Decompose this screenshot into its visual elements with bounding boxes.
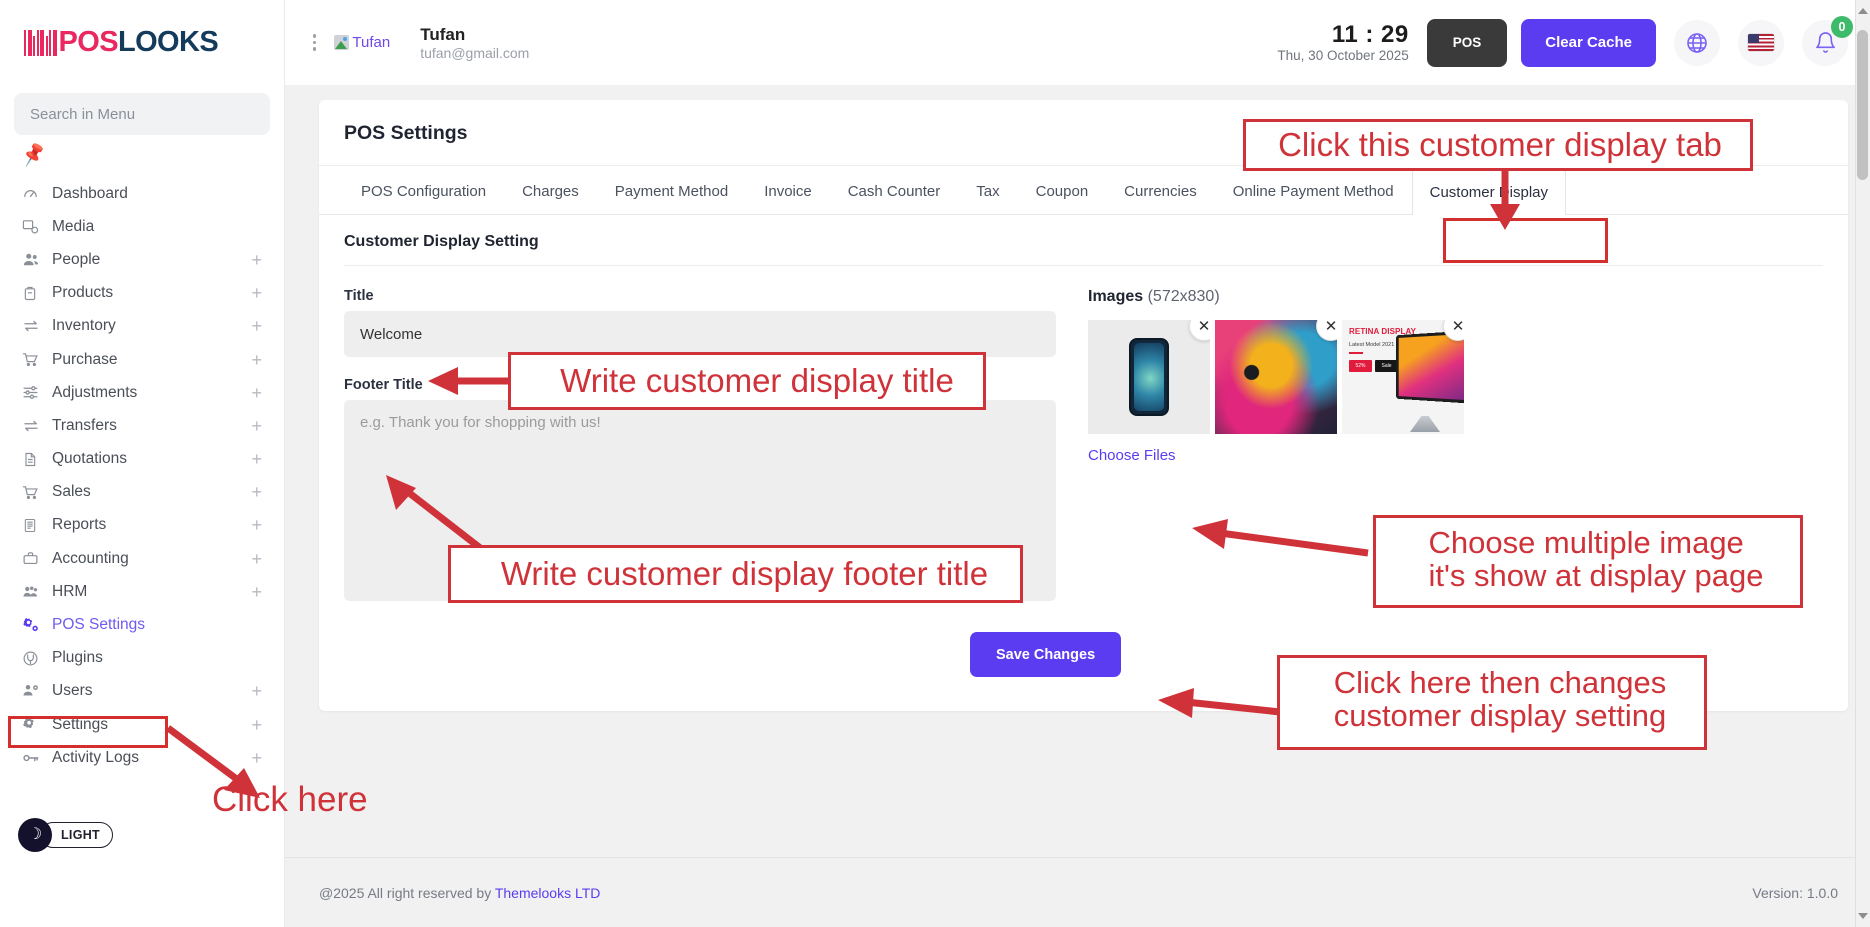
clock-block: 11 : 29 Thu, 30 October 2025 xyxy=(1277,22,1408,63)
cart-icon xyxy=(22,351,52,368)
pushpin-icon[interactable]: 📌 xyxy=(20,143,48,167)
group-icon xyxy=(22,583,52,601)
sidebar-item-label: Sales xyxy=(52,483,251,501)
choose-files-link[interactable]: Choose Files xyxy=(1088,447,1176,464)
sidebar-item-label: Dashboard xyxy=(52,185,262,203)
sidebar-item-expand-icon[interactable]: + xyxy=(251,450,262,468)
clear-cache-button[interactable]: Clear Cache xyxy=(1521,19,1656,67)
sidebar-item-label: Accounting xyxy=(52,550,251,568)
tab-coupon[interactable]: Coupon xyxy=(1018,166,1107,214)
sidebar-item-hrm[interactable]: HRM+ xyxy=(0,575,284,608)
user-email: tufan@gmail.com xyxy=(420,45,529,61)
banner-badge-sale: Sale xyxy=(1375,360,1398,372)
kebab-menu-icon[interactable] xyxy=(313,34,316,50)
sidebar-item-expand-icon[interactable]: + xyxy=(251,583,262,601)
anno-write-footer-title: Write customer display footer title xyxy=(448,545,1023,603)
media-icon xyxy=(22,218,52,235)
title-label: Title xyxy=(344,288,1056,304)
sidebar-item-expand-icon[interactable]: + xyxy=(251,483,262,501)
key-icon xyxy=(22,749,52,767)
sidebar-item-label: POS Settings xyxy=(52,616,262,634)
tab-online-payment-method[interactable]: Online Payment Method xyxy=(1215,166,1412,214)
sidebar-item-media[interactable]: Media xyxy=(0,210,284,243)
footer-copyright: @2025 All right reserved by Themelooks L… xyxy=(319,885,600,901)
current-time: 11 : 29 xyxy=(1277,22,1408,48)
tab-charges[interactable]: Charges xyxy=(504,166,597,214)
moon-icon: ☽ xyxy=(18,818,52,852)
retina-display-banner-image: RETINA DISPLAY Latest Model 2021 52% Sal… xyxy=(1342,320,1464,434)
tab-payment-method[interactable]: Payment Method xyxy=(597,166,746,214)
scroll-down-arrow-icon[interactable] xyxy=(1858,913,1868,919)
app-root: POSLOOKS 📌 DashboardMediaPeople+Products… xyxy=(0,0,1870,927)
exchange-icon xyxy=(22,417,52,435)
exchange-icon xyxy=(22,317,52,335)
logo-text-looks: LOOKS xyxy=(118,26,218,58)
page-footer: @2025 All right reserved by Themelooks L… xyxy=(285,857,1870,927)
notifications-button[interactable]: 0 xyxy=(1802,20,1848,66)
sidebar-item-pos-settings[interactable]: POS Settings xyxy=(0,608,284,641)
tab-tax[interactable]: Tax xyxy=(958,166,1017,214)
products-icon xyxy=(22,285,52,302)
sidebar-item-inventory[interactable]: Inventory+ xyxy=(0,310,284,343)
broken-image-icon xyxy=(334,35,349,50)
sidebar-item-expand-icon[interactable]: + xyxy=(251,284,262,302)
user-name: Tufan xyxy=(420,24,529,45)
image-thumbnail[interactable]: ✕ RETINA DISPLAY Latest Model 2021 52% S… xyxy=(1342,320,1464,434)
anno-save-changes: Click here then changes customer display… xyxy=(1277,655,1707,750)
sidebar-item-label: HRM xyxy=(52,583,251,601)
sidebar-item-label: Products xyxy=(52,284,251,302)
briefcase-icon xyxy=(22,550,52,567)
current-date: Thu, 30 October 2025 xyxy=(1277,48,1408,63)
user-info: Tufan tufan@gmail.com xyxy=(420,24,529,61)
images-label: Images (572x830) xyxy=(1088,288,1823,306)
tab-invoice[interactable]: Invoice xyxy=(746,166,830,214)
us-flag-icon xyxy=(1748,34,1774,51)
sidebar-item-users[interactable]: Users+ xyxy=(0,675,284,708)
main-content: POS Settings POS ConfigurationChargesPay… xyxy=(285,85,1870,927)
logo-text-pos: POS xyxy=(59,26,118,58)
sidebar-item-label: Media xyxy=(52,218,262,236)
sidebar-item-expand-icon[interactable]: + xyxy=(251,682,262,700)
document-icon xyxy=(22,451,52,468)
sidebar-item-quotations[interactable]: Quotations+ xyxy=(0,443,284,476)
sidebar-item-transfers[interactable]: Transfers+ xyxy=(0,409,284,442)
theme-toggle[interactable]: ☽ LIGHT xyxy=(18,818,113,852)
sidebar-item-label: Reports xyxy=(52,516,251,534)
anno-write-title: Write customer display title xyxy=(508,352,986,410)
cart-icon xyxy=(22,484,52,501)
people-icon xyxy=(22,251,52,269)
footer-company-link[interactable]: Themelooks LTD xyxy=(495,885,601,901)
sidebar-item-label: Transfers xyxy=(52,417,251,435)
notification-badge: 0 xyxy=(1831,16,1853,38)
sidebar-item-expand-icon[interactable]: + xyxy=(251,417,262,435)
sidebar-item-purchase[interactable]: Purchase+ xyxy=(0,343,284,376)
section-title: Customer Display Setting xyxy=(319,215,1848,265)
gauge-icon xyxy=(22,185,52,202)
tab-pos-configuration[interactable]: POS Configuration xyxy=(343,166,504,214)
tab-currencies[interactable]: Currencies xyxy=(1106,166,1215,214)
language-flag-button[interactable] xyxy=(1738,20,1784,66)
sidebar-item-adjustments[interactable]: Adjustments+ xyxy=(0,376,284,409)
remove-image-icon[interactable]: ✕ xyxy=(1189,320,1210,341)
app-logo[interactable]: POSLOOKS xyxy=(0,0,284,85)
sidebar-item-label: People xyxy=(52,251,251,269)
scrollbar-thumb[interactable] xyxy=(1857,30,1868,180)
image-thumbnail[interactable]: ✕ xyxy=(1215,320,1337,434)
page-scrollbar[interactable] xyxy=(1855,0,1870,927)
image-thumbnail[interactable]: ✕ xyxy=(1088,320,1210,434)
avatar-alt-text: Tufan xyxy=(352,34,390,51)
topbar: Tufan Tufan tufan@gmail.com 11 : 29 Thu,… xyxy=(285,0,1870,85)
sidebar-item-expand-icon[interactable]: + xyxy=(251,251,262,269)
sidebar-item-label: Plugins xyxy=(52,649,262,667)
anno-arrow-save xyxy=(1140,680,1290,730)
sidebar-item-sales[interactable]: Sales+ xyxy=(0,476,284,509)
sidebar-item-expand-icon[interactable]: + xyxy=(251,516,262,534)
footer-version: Version: 1.0.0 xyxy=(1752,885,1838,901)
barcode-icon xyxy=(24,30,57,56)
anno-arrow-title xyxy=(420,363,520,399)
avatar[interactable]: Tufan xyxy=(334,34,390,51)
pos-button[interactable]: POS xyxy=(1427,19,1508,67)
anno-choose-images: Choose multiple image it's show at displ… xyxy=(1373,515,1803,608)
search-input[interactable] xyxy=(30,106,254,123)
phone-product-image xyxy=(1129,338,1169,416)
plug-icon xyxy=(22,650,52,667)
pinned-menu-row[interactable]: 📌 xyxy=(0,135,284,175)
hummingbird-image xyxy=(1215,320,1337,434)
anno-arrow-tab xyxy=(1480,168,1540,238)
sliders-icon xyxy=(22,384,52,401)
sidebar-item-accounting[interactable]: Accounting+ xyxy=(0,542,284,575)
images-dimensions: (572x830) xyxy=(1148,288,1220,305)
sidebar-item-dashboard[interactable]: Dashboard xyxy=(0,177,284,210)
anno-arrow-choose-files xyxy=(1172,515,1382,563)
images-label-text: Images xyxy=(1088,288,1143,305)
gears-icon xyxy=(22,616,52,634)
sidebar-item-label: Users xyxy=(52,682,251,700)
sidebar-item-label: Purchase xyxy=(52,351,251,369)
sidebar-search[interactable] xyxy=(14,93,270,135)
globe-icon[interactable] xyxy=(1674,20,1720,66)
sidebar-item-expand-icon[interactable]: + xyxy=(251,351,262,369)
sidebar-item-products[interactable]: Products+ xyxy=(0,277,284,310)
sidebar-item-people[interactable]: People+ xyxy=(0,243,284,276)
banner-badge-discount: 52% xyxy=(1349,360,1372,372)
sidebar-item-expand-icon[interactable]: + xyxy=(251,317,262,335)
banner-subtitle: Latest Model 2021 xyxy=(1349,342,1394,348)
gear-icon xyxy=(22,716,52,733)
sidebar-item-label: Inventory xyxy=(52,317,251,335)
sidebar-item-expand-icon[interactable]: + xyxy=(251,384,262,402)
tab-cash-counter[interactable]: Cash Counter xyxy=(830,166,959,214)
title-input[interactable] xyxy=(344,311,1056,357)
anno-click-here: Click here xyxy=(212,775,412,825)
anno-customer-display-tab: Click this customer display tab xyxy=(1243,119,1753,171)
save-changes-button[interactable]: Save Changes xyxy=(970,632,1121,677)
scroll-up-arrow-icon[interactable] xyxy=(1858,8,1868,14)
sidebar-item-label: Quotations xyxy=(52,450,251,468)
report-icon xyxy=(22,517,52,534)
footer-copyright-text: @2025 All right reserved by xyxy=(319,885,495,901)
sidebar-item-label: Adjustments xyxy=(52,384,251,402)
sidebar-item-reports[interactable]: Reports+ xyxy=(0,509,284,542)
sidebar-item-plugins[interactable]: Plugins xyxy=(0,642,284,675)
users-gear-icon xyxy=(22,682,52,700)
image-thumbnails: ✕ ✕ ✕ RETINA DISPLAY Latest Model 2021 xyxy=(1088,320,1823,434)
settings-tabs: POS ConfigurationChargesPayment MethodIn… xyxy=(319,166,1848,215)
sidebar-item-expand-icon[interactable]: + xyxy=(251,550,262,568)
